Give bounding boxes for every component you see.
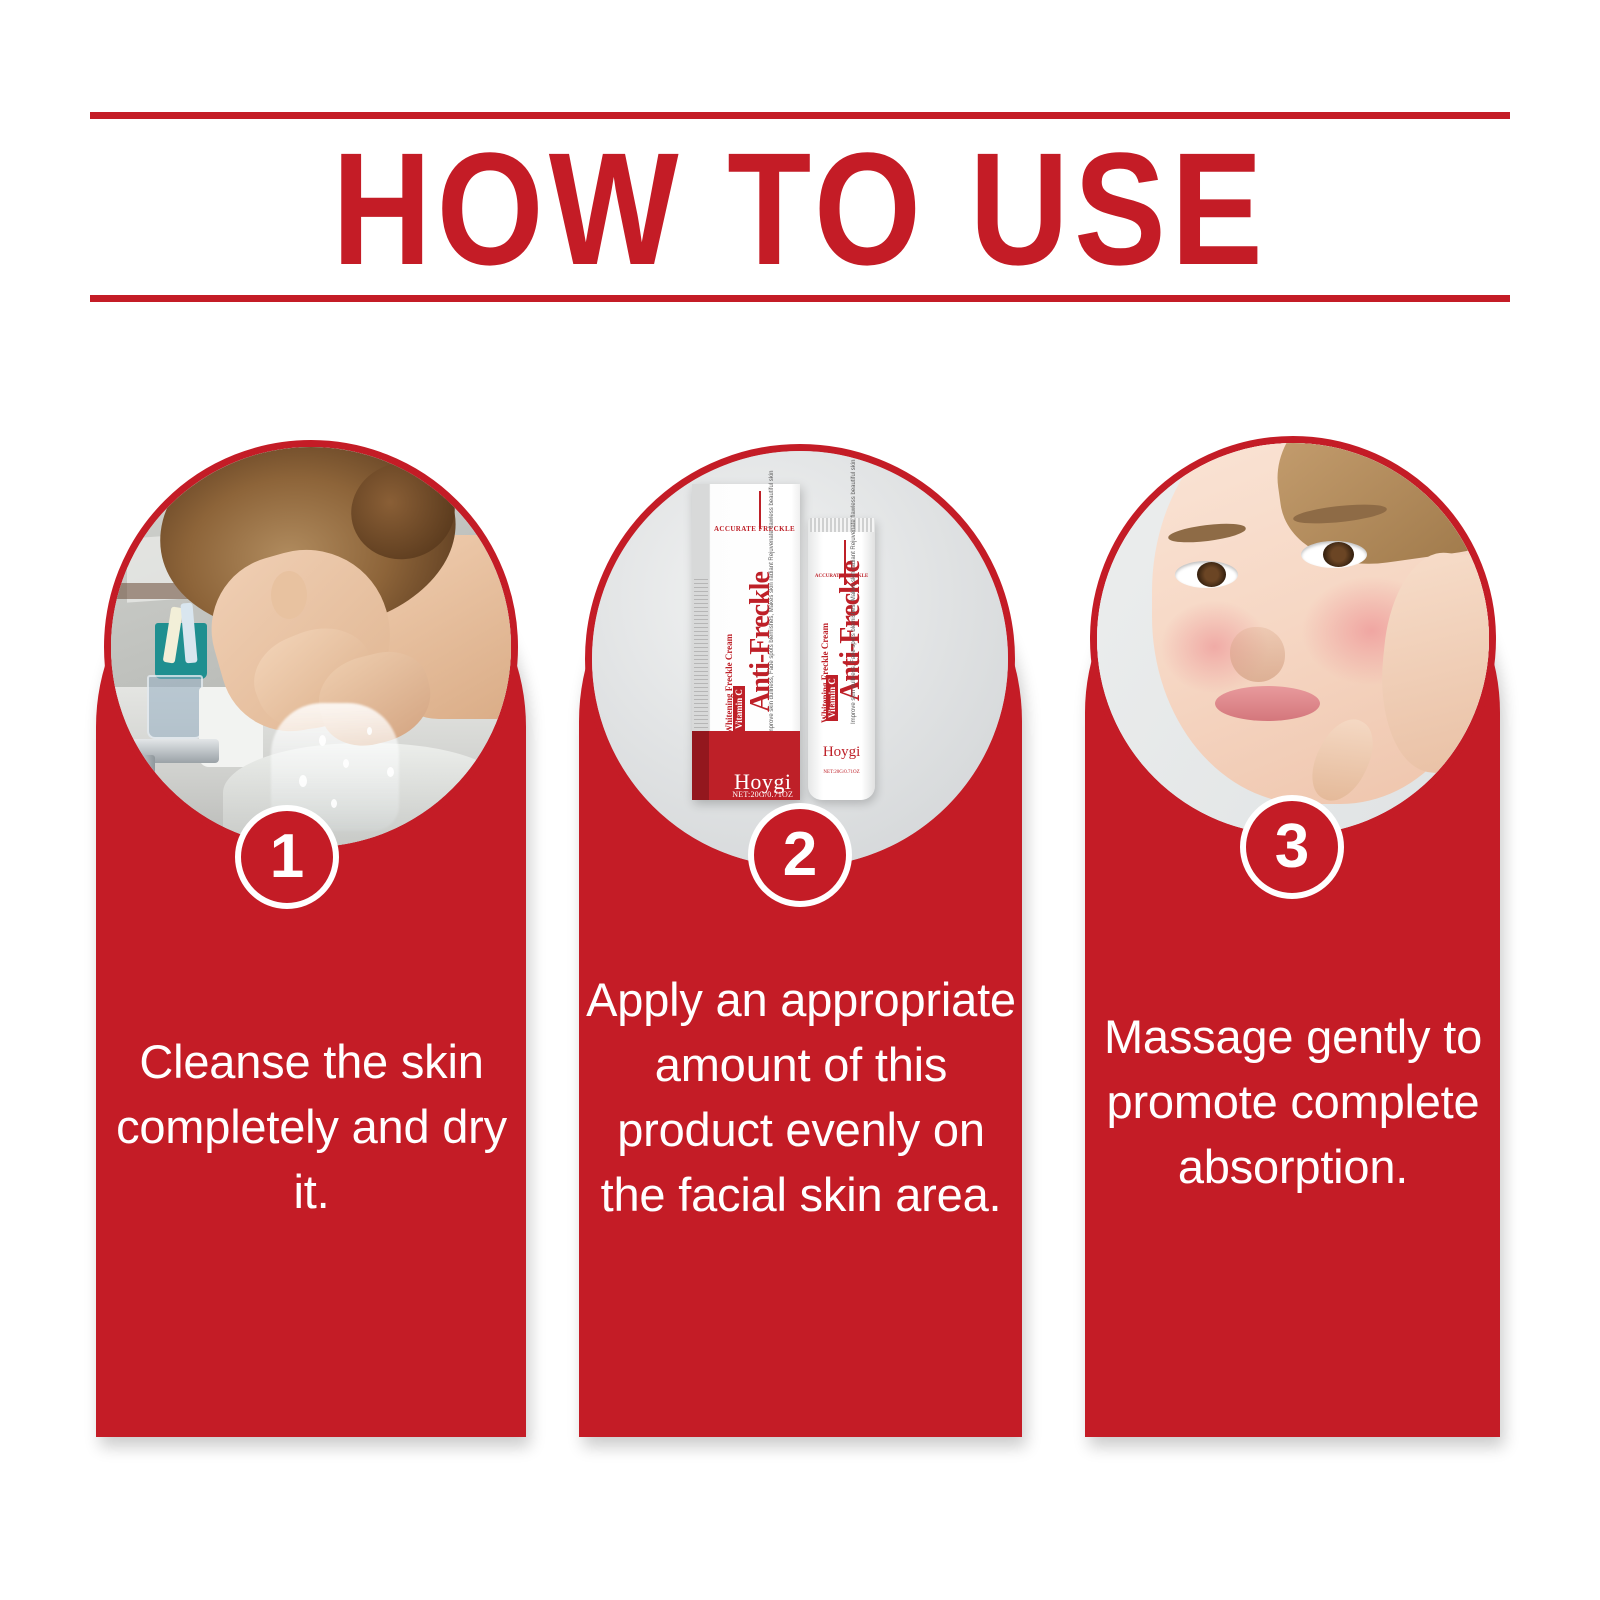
tube-net-weight: NET:20G/0.71OZ [812, 770, 871, 775]
massage-face-illustration [1097, 443, 1489, 835]
tube-vertical-copy: Whitening Freckle Cream Vitamin C Anti-F… [812, 597, 871, 733]
step-1-photo-inner [111, 447, 511, 847]
steps-container: 1 Cleanse the skin completely and dry it… [0, 0, 1600, 1600]
step-caption-3: Massage gently to promote complete absor… [1092, 1005, 1494, 1200]
step-caption-2: Apply an appropriate amount of this prod… [586, 968, 1016, 1227]
wash-face-illustration [111, 447, 511, 847]
step-1-photo [104, 440, 518, 854]
product-carton: ACCURATE FRECKLE Whitening Freckle Cream… [692, 484, 800, 800]
step-3-photo-inner [1097, 443, 1489, 835]
carton-foot: Hoygi NET:20G/0.71OZ [709, 731, 800, 801]
carton-vitamin-badge: Vitamin C [733, 686, 745, 732]
step-number-badge-1: 1 [235, 805, 339, 909]
carton-vertical-copy: Whitening Freckle Cream Vitamin C Anti-F… [711, 554, 800, 744]
carton-side-copy [694, 579, 708, 737]
carton-foot-side [692, 731, 709, 801]
product-tube: ACCURATE FRECKLE Whitening Freckle Cream… [808, 518, 875, 801]
infographic-page: HOW TO USE [0, 0, 1600, 1600]
step-number-badge-2: 2 [748, 803, 852, 907]
step-number-badge-3: 3 [1240, 795, 1344, 899]
tube-description: Improve skin dullness, Fade spots blemis… [850, 459, 859, 723]
carton-description: Improve skin dullness, Fade spots blemis… [768, 470, 777, 734]
step-caption-1: Cleanse the skin completely and dry it. [104, 1030, 519, 1225]
step-3-photo [1090, 436, 1496, 842]
carton-tagline: ACCURATE FRECKLE [711, 525, 798, 533]
tube-crimp [810, 518, 874, 532]
carton-accent-line [759, 491, 761, 529]
tube-brand: Hoygi [812, 744, 871, 761]
carton-net-weight: NET:20G/0.71OZ [725, 790, 799, 799]
